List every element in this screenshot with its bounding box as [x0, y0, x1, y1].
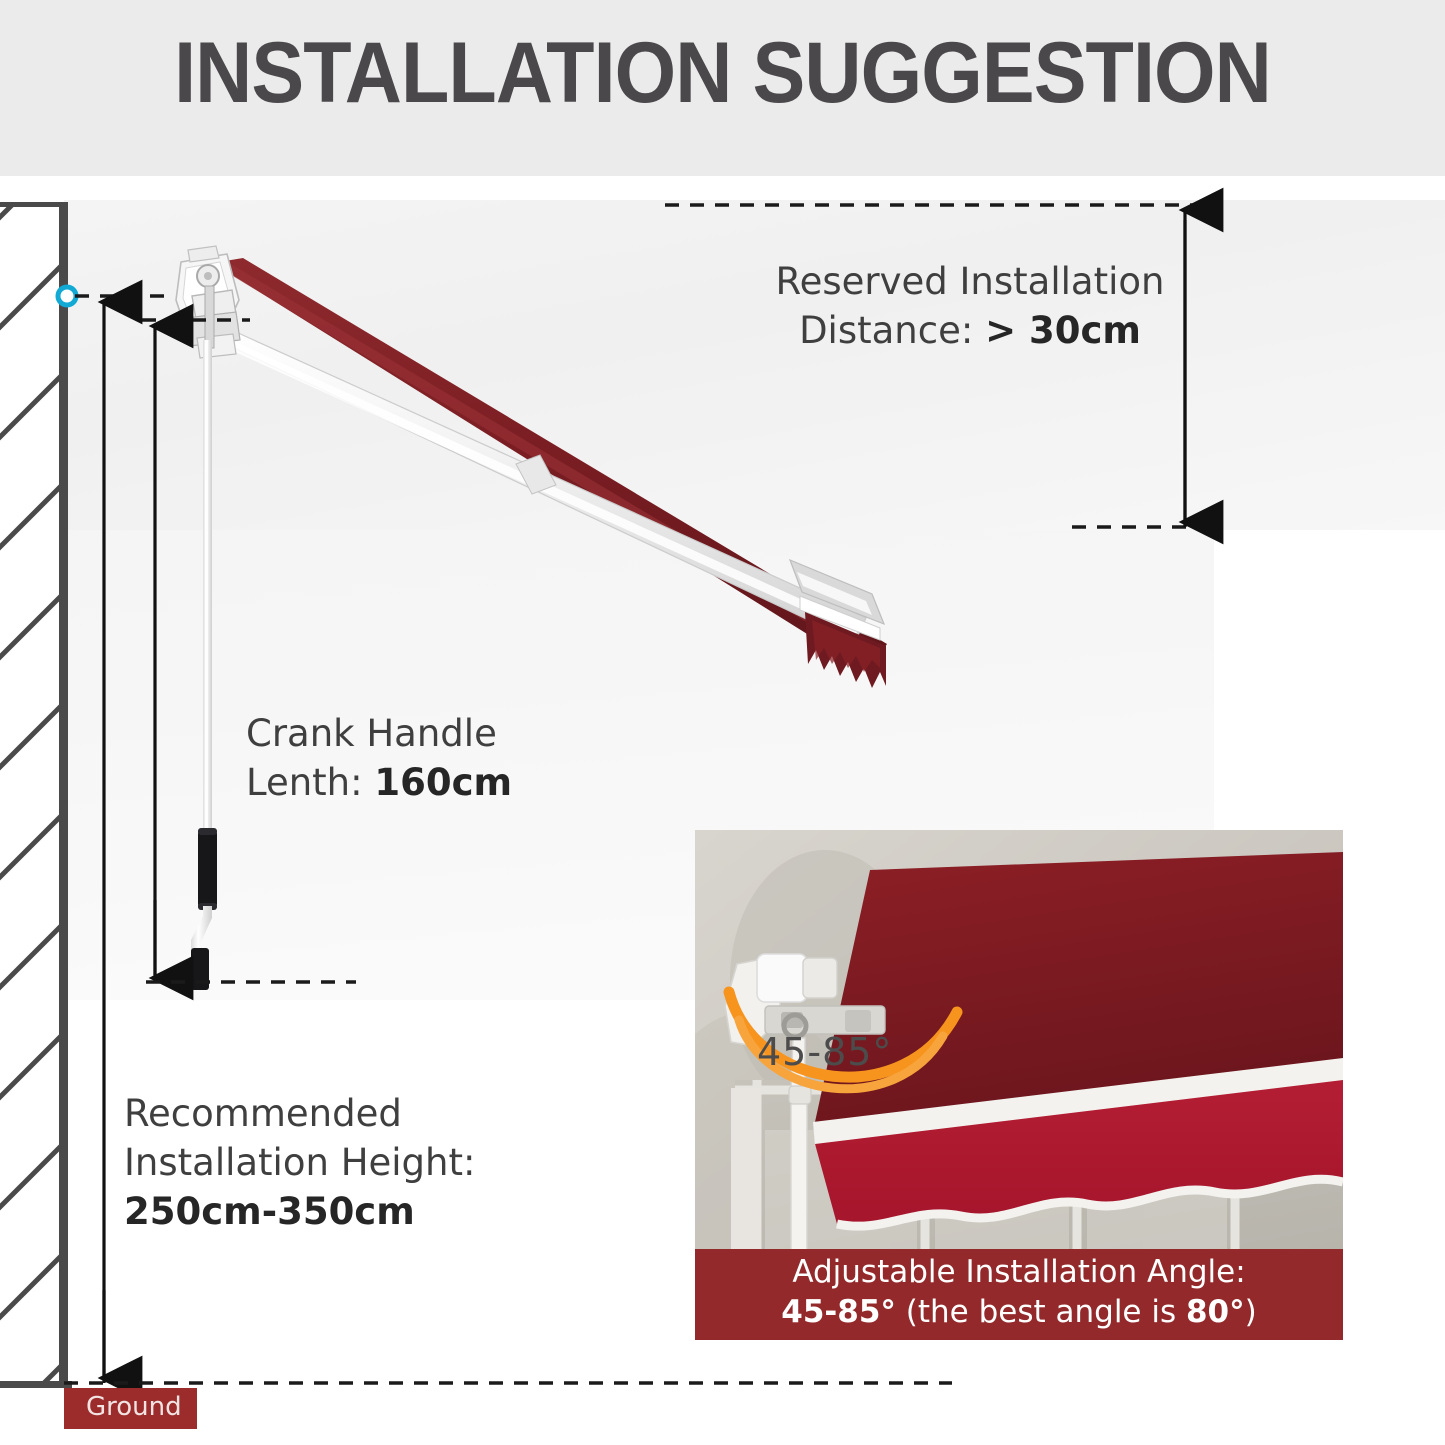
photo-caption-bar: Adjustable Installation Angle: 45-85° (t…	[695, 1249, 1343, 1340]
height-line2: Installation Height:	[124, 1141, 475, 1184]
page-title: INSTALLATION SUGGESTION	[58, 30, 1387, 116]
background-panel-top	[64, 200, 1445, 530]
crank-value: 160cm	[374, 761, 512, 804]
crank-length-label: Crank Handle Lenth: 160cm	[246, 710, 576, 808]
crank-line1: Crank Handle	[246, 712, 497, 755]
reserved-distance-label: Reserved Installation Distance: > 30cm	[770, 258, 1170, 356]
crank-line2-label: Lenth:	[246, 761, 374, 804]
height-value: 250cm-350cm	[124, 1190, 415, 1233]
title-band: INSTALLATION SUGGESTION	[0, 0, 1445, 176]
install-height-label: Recommended Installation Height: 250cm-3…	[124, 1090, 544, 1236]
caption-line1: Adjustable Installation Angle:	[792, 1254, 1245, 1290]
wall-hatching-icon	[0, 207, 68, 1387]
wall-base	[0, 1381, 72, 1388]
wall-section	[0, 202, 68, 1387]
reserved-line2-label: Distance:	[799, 309, 985, 352]
caption-end: )	[1245, 1294, 1257, 1330]
reserved-value: > 30cm	[985, 309, 1141, 352]
installation-suggestion-diagram: INSTALLATION SUGGESTION	[0, 0, 1445, 1445]
ground-label-badge: Ground	[64, 1388, 197, 1429]
caption-angle-range: 45-85°	[781, 1294, 896, 1330]
caption-mid: (the best angle is	[896, 1294, 1186, 1330]
height-line1: Recommended	[124, 1092, 402, 1135]
caption-best-angle: 80°	[1186, 1294, 1245, 1330]
reserved-line1: Reserved Installation	[776, 260, 1165, 303]
photo-angle-overlay-label: 45-85°	[757, 1030, 892, 1074]
